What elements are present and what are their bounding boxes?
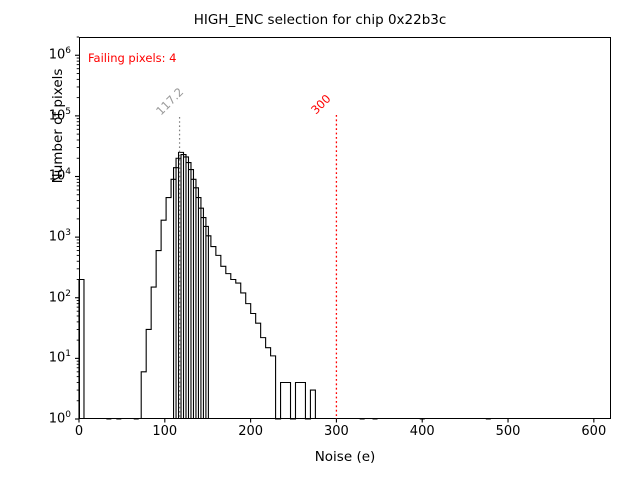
chart-root: HIGH_ENC selection for chip 0x22b3c Numb…: [0, 0, 640, 480]
histogram-step-outline: [79, 152, 491, 419]
axis-tickmarks: [75, 37, 594, 423]
histogram-canvas: [0, 0, 640, 480]
failing-pixels-annotation: Failing pixels: 4: [88, 51, 177, 65]
